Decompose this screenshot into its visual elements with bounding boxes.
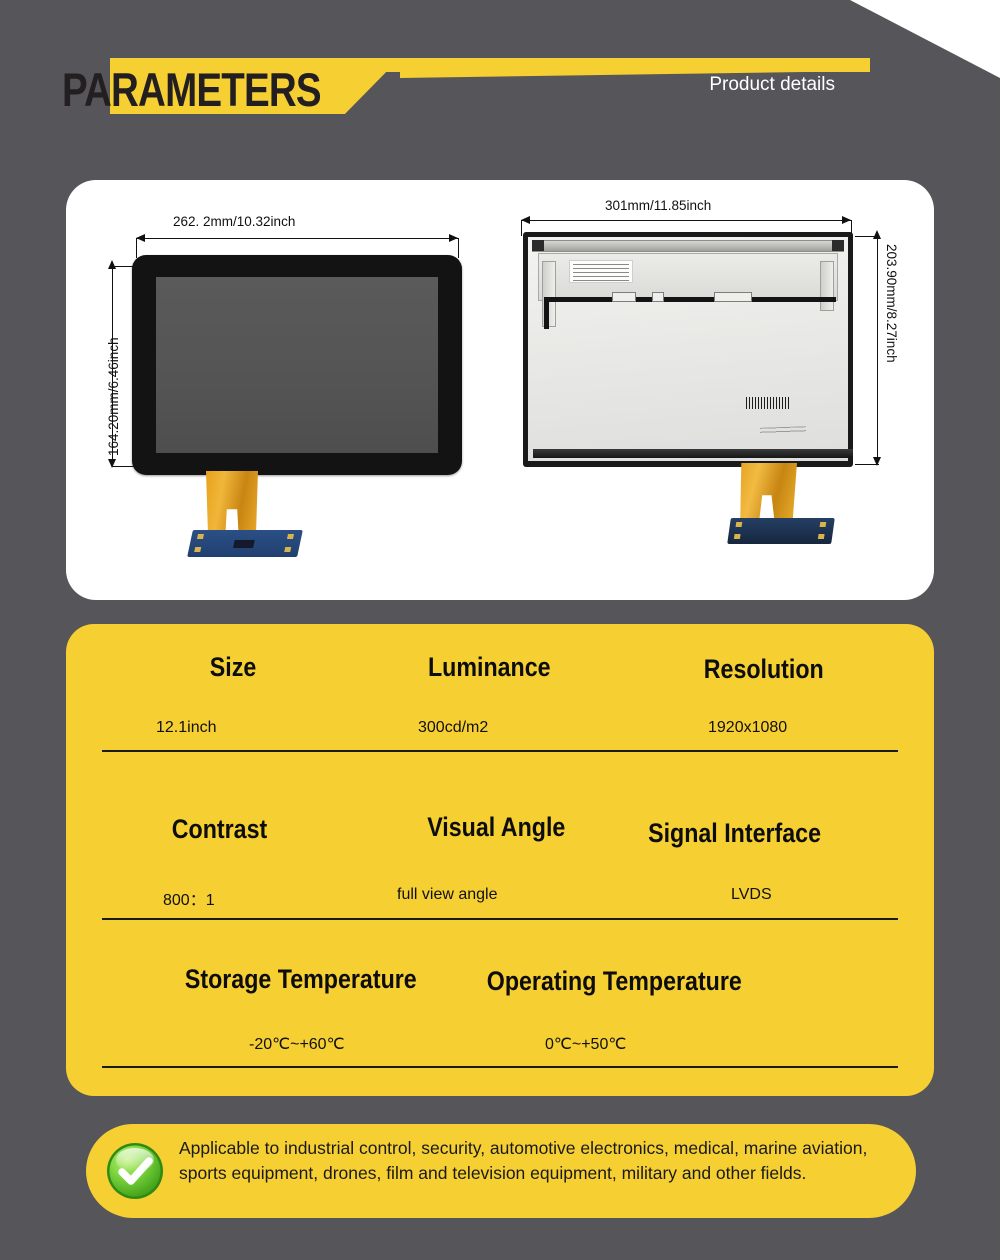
lcd-flex-cable (739, 463, 797, 525)
touch-panel-figure: 262. 2mm/10.32inch 164.20mm/6.46inch (86, 190, 506, 590)
touch-width-tick-right (458, 238, 459, 258)
touch-width-arrow-left (136, 234, 145, 242)
check-circle-icon (105, 1141, 165, 1201)
lcd-controller-board (727, 518, 835, 544)
lcd-width-arrow-left (521, 216, 530, 224)
lcd-panel-front (528, 237, 848, 461)
spec-divider (102, 750, 898, 752)
lcd-driver-cover (538, 253, 838, 301)
spec-divider (102, 1066, 898, 1068)
lcd-corner-bracket (832, 240, 844, 251)
touch-width-arrow-right (449, 234, 458, 242)
spec-value-contrast: 800：1 (163, 886, 215, 910)
pcb-pad (284, 547, 291, 552)
pcb-pad (820, 522, 827, 527)
lcd-top-frame (532, 240, 844, 252)
spec-value-storage-temperature: -20℃~+60℃ (249, 1034, 345, 1054)
touch-controller-chip (233, 540, 255, 548)
spec-label-storage-temperature: Storage Temperature (185, 964, 417, 995)
product-parameters-page: PARAMETERS Product details 262. 2mm/10.3… (0, 0, 1000, 1260)
lcd-connector (714, 292, 752, 302)
lcd-bottom-edge (533, 449, 853, 458)
spec-label-size: Size (210, 652, 256, 683)
pcb-pad (197, 534, 204, 539)
spec-label-visual-angle: Visual Angle (427, 812, 565, 843)
spec-value-size: 12.1inch (156, 719, 217, 737)
header-subtitle: Product details (709, 74, 835, 96)
lcd-barcode (746, 397, 790, 409)
spec-value-resolution: 1920x1080 (708, 719, 787, 737)
spec-label-contrast: Contrast (172, 814, 267, 845)
lcd-width-arrow-right (842, 216, 851, 224)
lcd-corner-bracket (532, 240, 544, 251)
product-image-card: 262. 2mm/10.32inch 164.20mm/6.46inch (66, 180, 934, 600)
pcb-pad (736, 522, 743, 527)
lcd-width-dimension-line (521, 220, 851, 221)
applications-text: Applicable to industrial control, securi… (179, 1136, 887, 1186)
spec-value-visual-angle: full view angle (397, 886, 498, 904)
touch-width-tick-left (136, 238, 137, 258)
lcd-side-bracket-right (820, 261, 834, 311)
spec-value-operating-temperature: 0℃~+50℃ (545, 1034, 626, 1054)
lcd-spec-label (569, 260, 633, 283)
lcd-height-tick-top (855, 236, 879, 237)
touch-height-arrow-up (108, 260, 116, 269)
touch-panel-screen (156, 277, 438, 453)
pcb-pad (734, 534, 741, 539)
spec-value-luminance: 300cd/m2 (418, 719, 488, 737)
spec-label-resolution: Resolution (704, 654, 824, 685)
lcd-inner-rail-stub (544, 297, 549, 329)
pcb-pad (818, 534, 825, 539)
lcd-width-tick-left (521, 220, 522, 236)
applications-banner: Applicable to industrial control, securi… (86, 1124, 916, 1218)
page-header: PARAMETERS Product details (0, 0, 1000, 160)
touch-panel-flex-cable (206, 471, 258, 537)
spec-label-luminance: Luminance (428, 652, 551, 683)
spec-label-operating-temperature: Operating Temperature (487, 966, 742, 997)
page-title: PARAMETERS (62, 62, 321, 117)
lcd-width-label: 301mm/11.85inch (605, 198, 711, 213)
lcd-height-dimension-line (877, 236, 878, 464)
pcb-pad (287, 534, 294, 539)
lcd-printed-text (760, 426, 806, 435)
lcd-height-tick-bottom (855, 464, 879, 465)
touch-width-dimension-line (136, 238, 458, 239)
pcb-pad (194, 547, 201, 552)
spec-divider (102, 918, 898, 920)
touch-panel-bezel (132, 255, 462, 475)
touch-panel-controller-board (187, 530, 303, 557)
spec-label-signal-interface: Signal Interface (648, 818, 821, 849)
touch-height-label: 164.20mm/6.46inch (106, 337, 121, 456)
lcd-connector (652, 292, 664, 302)
lcd-connector (612, 292, 636, 302)
touch-width-label: 262. 2mm/10.32inch (173, 214, 295, 229)
specifications-card: Size Luminance Resolution 12.1inch 300cd… (66, 624, 934, 1096)
spec-value-signal-interface: LVDS (731, 886, 772, 904)
lcd-panel-body (523, 232, 853, 467)
lcd-height-arrow-up (873, 230, 881, 239)
lcd-panel-figure: 301mm/11.85inch 203.90mm/8.27inch (511, 186, 921, 590)
lcd-height-label: 203.90mm/8.27inch (884, 244, 899, 363)
lcd-inner-rail (544, 297, 836, 302)
